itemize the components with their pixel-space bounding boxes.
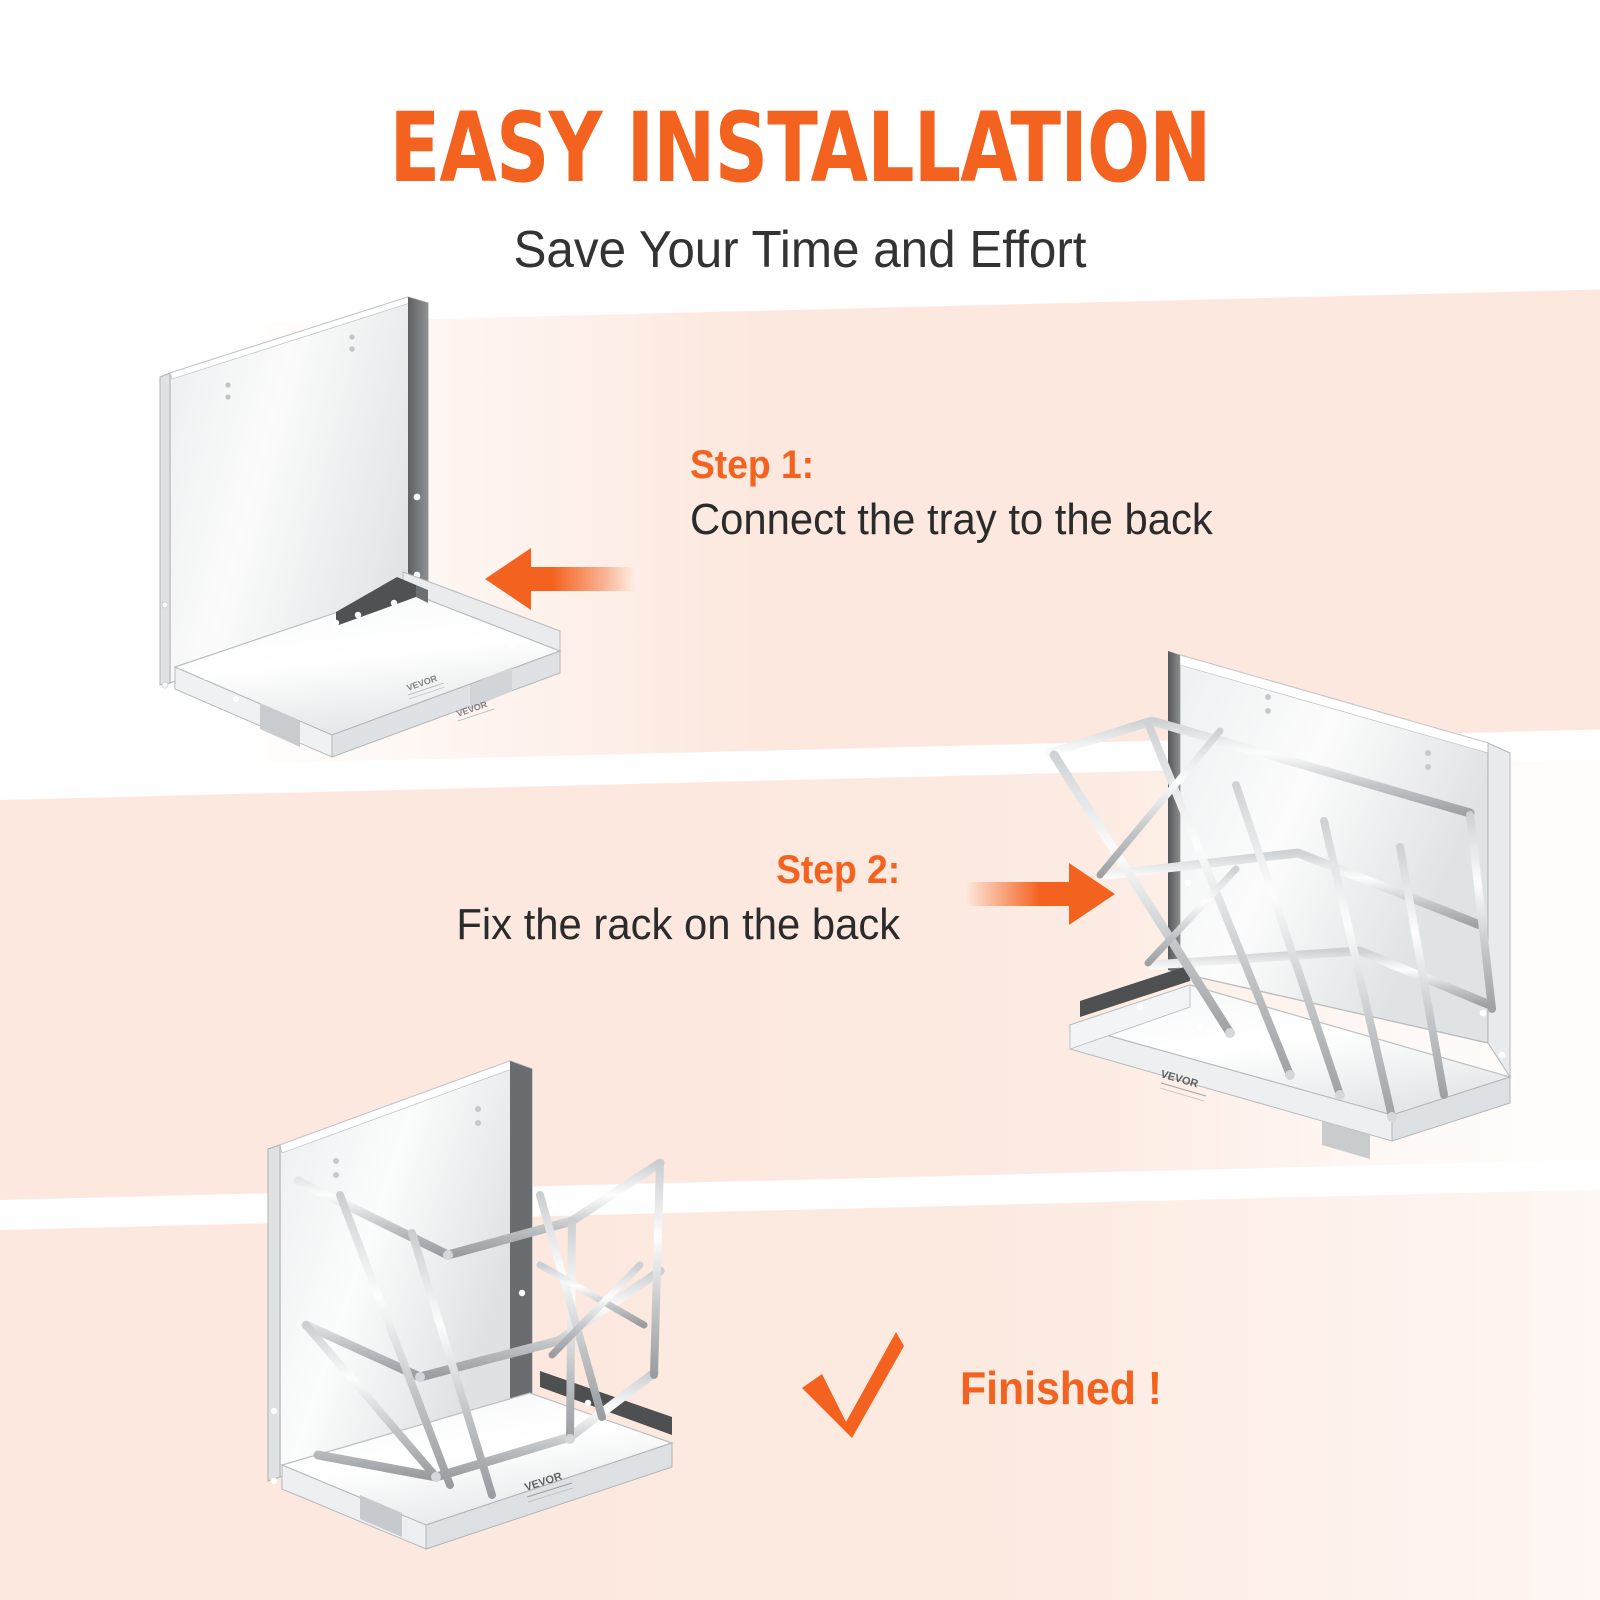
step-2-label: Step 2: (466, 845, 900, 895)
arrow-right-icon (965, 855, 1115, 938)
step-1-instruction: Connect the tray to the back (690, 494, 1213, 547)
step-1-label: Step 1: (690, 440, 1202, 490)
step-2-text-block: Step 2: Fix the rack on the back (433, 845, 900, 952)
step-1-text-block: Step 1: Connect the tray to the back (690, 440, 1240, 547)
arrow-left-icon (485, 540, 635, 623)
finished-label: Finished ! (960, 1361, 1162, 1415)
product-image-step-1: VEVOR VEVOR (140, 285, 620, 790)
finished-row: Finished ! (800, 1330, 1177, 1445)
page-subtitle: Save Your Time and Effort (40, 222, 1560, 279)
product-image-step-2: VEVOR (1040, 625, 1540, 1210)
page-title: EASY INSTALLATION (112, 100, 1488, 196)
product-image-finished: VEVOR (240, 1025, 720, 1575)
check-icon (800, 1330, 908, 1445)
step-2-instruction: Fix the rack on the back (456, 899, 900, 952)
infographic-canvas: EASY INSTALLATION Save Your Time and Eff… (0, 0, 1600, 1600)
